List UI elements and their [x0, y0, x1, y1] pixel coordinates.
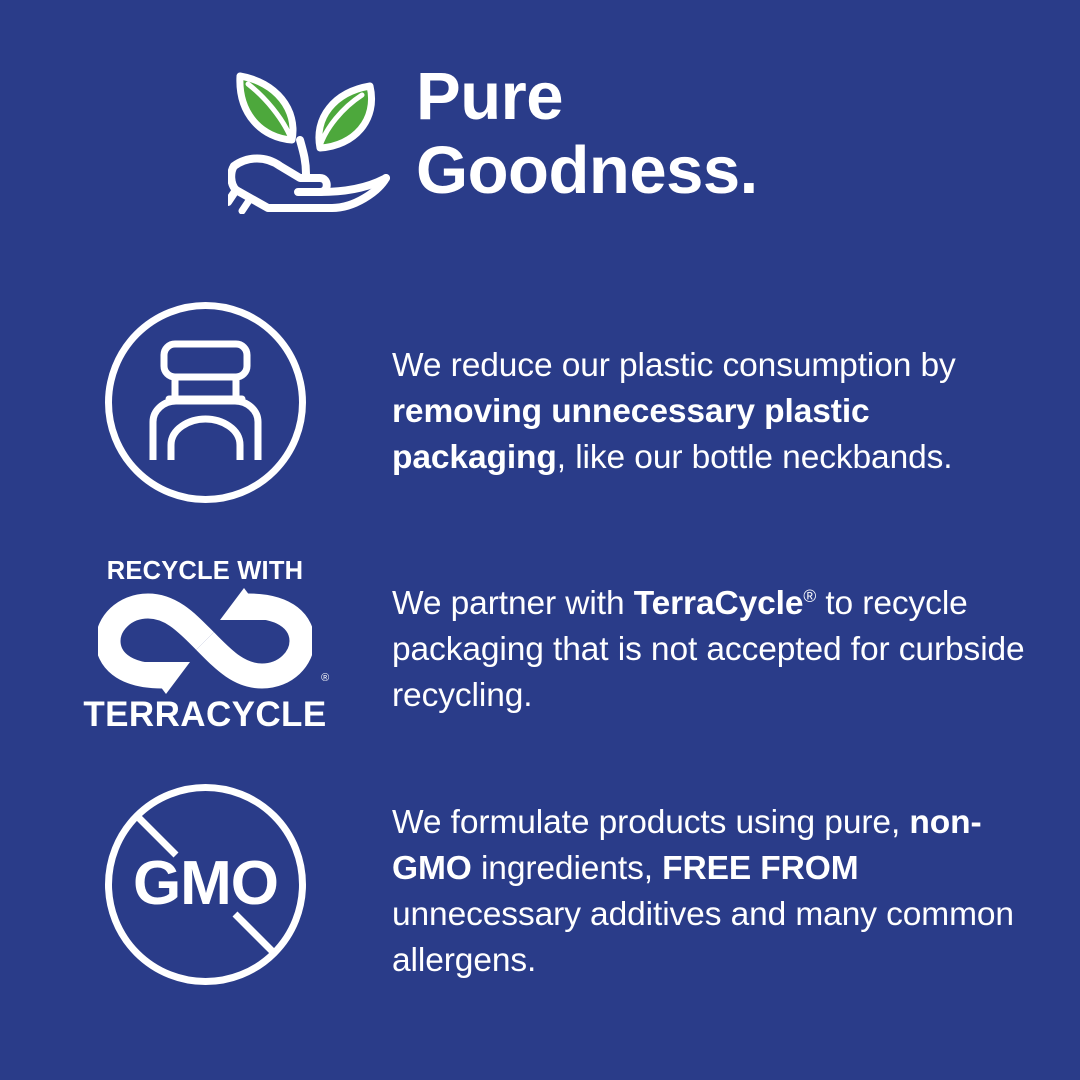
feature-text-cell: We formulate products using pure, non-GM… [392, 782, 1080, 984]
text-segment-bold: TerraCycle [634, 585, 804, 622]
feature-text-cell: We reduce our plastic consumption by rem… [392, 300, 1080, 481]
feature-icon-cell [0, 300, 392, 505]
text-segment: We reduce our plastic consumption by [392, 347, 956, 384]
bottle-in-circle-icon [103, 300, 308, 505]
feature-text-cell: We partner with TerraCycle® to recycle p… [392, 555, 1080, 719]
terracycle-logo-icon: RECYCLE WITH TERRACYCLE® [98, 555, 312, 732]
text-segment-bold: FREE FROM [662, 850, 858, 887]
text-segment: We partner with [392, 585, 634, 622]
hand-holding-sprout-icon [228, 62, 396, 214]
feature-description-non-gmo: We formulate products using pure, non-GM… [392, 782, 1028, 984]
gmo-label: GMO [132, 849, 277, 918]
registered-trademark-icon: ® [803, 586, 816, 606]
brand-header: Pure Goodness. [228, 58, 758, 214]
feature-row-terracycle: RECYCLE WITH TERRACYCLE® [0, 555, 1080, 732]
infinity-recycle-arrows-icon [98, 588, 312, 694]
terracycle-bottom-label: TERRACYCLE® [83, 697, 326, 732]
feature-description-plastic: We reduce our plastic consumption by rem… [392, 300, 1028, 481]
feature-icon-cell: GMO [0, 782, 392, 987]
feature-icon-cell: RECYCLE WITH TERRACYCLE® [0, 555, 392, 732]
terracycle-wordmark-text: TERRACYCLE [83, 695, 326, 734]
no-gmo-circle-slash-icon: GMO [103, 782, 308, 987]
text-segment: We formulate products using pure, [392, 804, 909, 841]
feature-description-terracycle: We partner with TerraCycle® to recycle p… [392, 555, 1028, 719]
text-segment: unnecessary additives and many common al… [392, 896, 1014, 979]
feature-row-non-gmo: GMO We formulate products using pure, no… [0, 782, 1080, 987]
page-title: Pure Goodness. [416, 58, 758, 207]
text-segment: ingredients, [472, 850, 662, 887]
promo-graphic: Pure Goodness. We reduce our plastic con… [0, 0, 1080, 1080]
feature-row-plastic-reduction: We reduce our plastic consumption by rem… [0, 300, 1080, 505]
registered-trademark-icon: ® [321, 673, 330, 684]
text-segment: , like our bottle neckbands. [557, 439, 953, 476]
terracycle-top-label: RECYCLE WITH [107, 559, 303, 585]
